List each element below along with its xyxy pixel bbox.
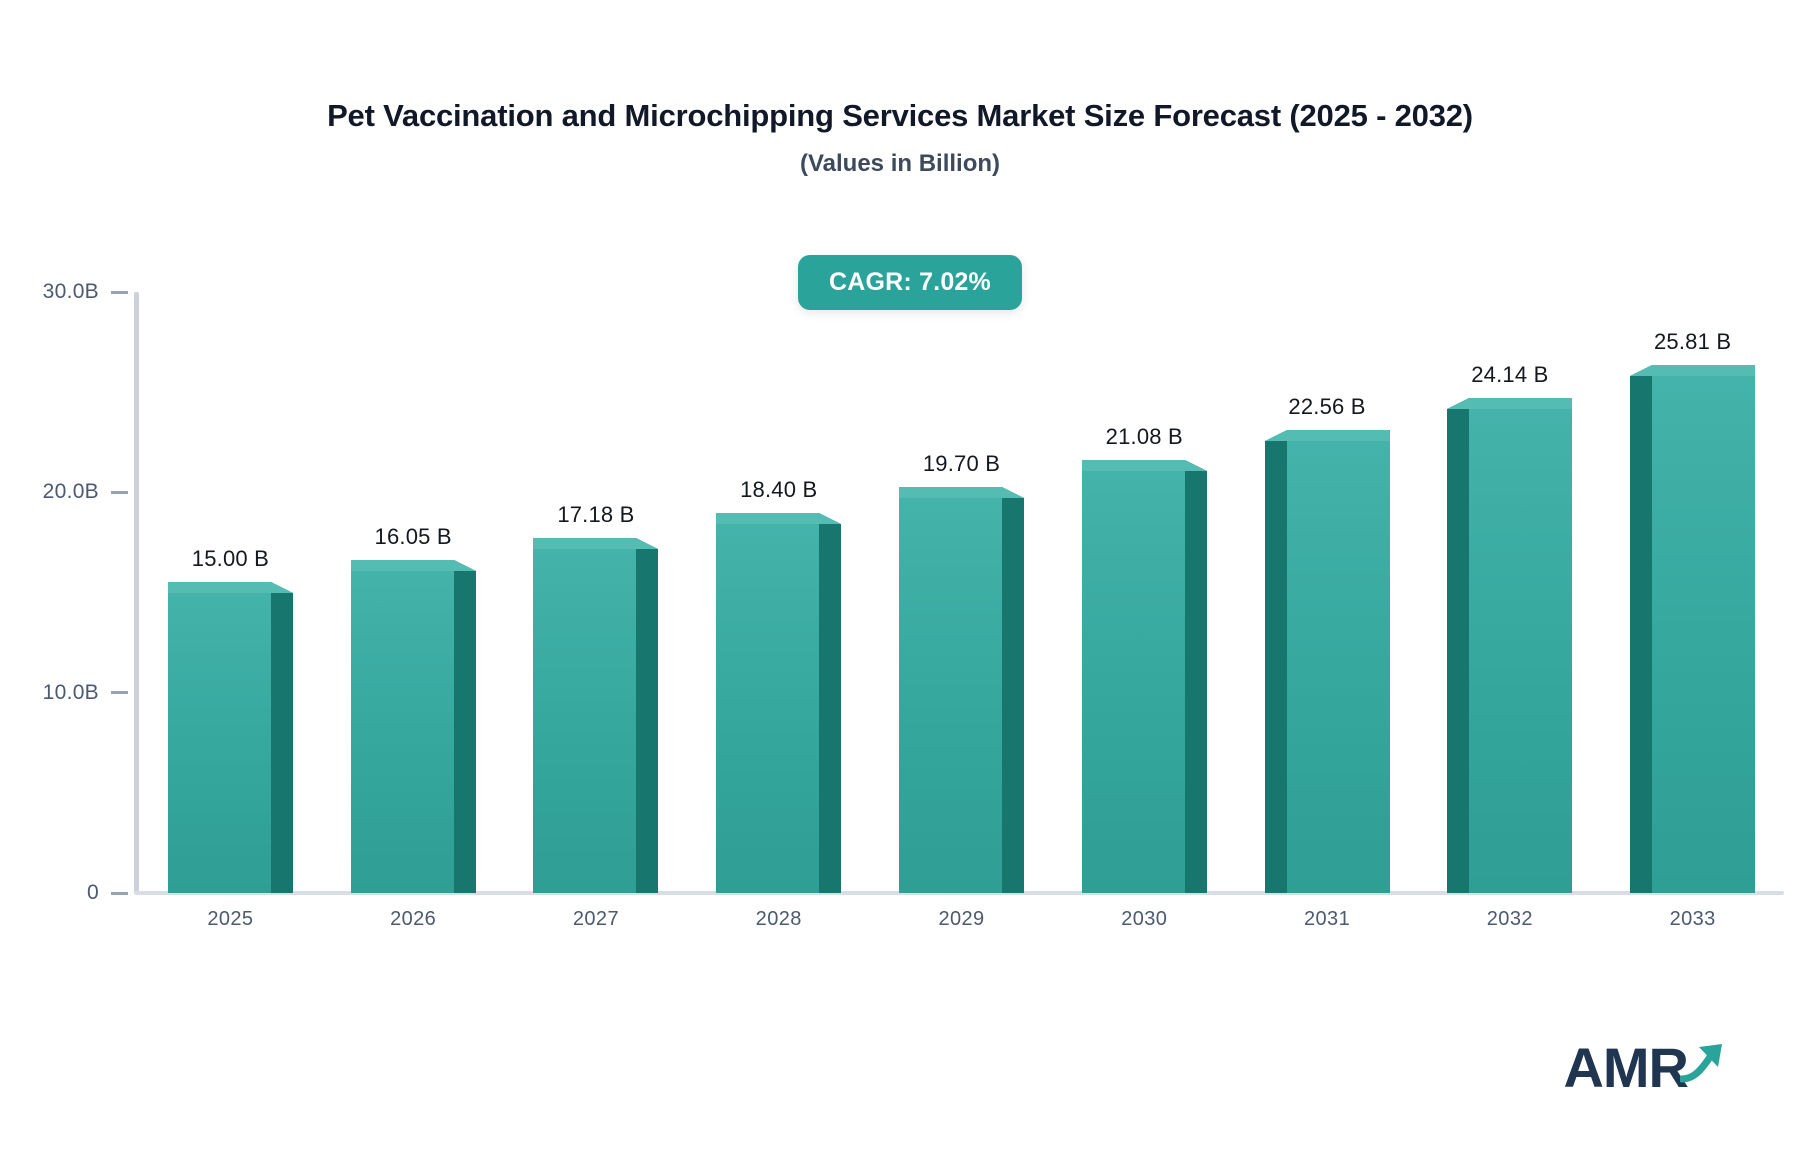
y-axis-tick-label: 0 bbox=[87, 881, 99, 905]
bar-value-label: 24.14 B bbox=[1410, 362, 1610, 388]
x-axis-label: 2030 bbox=[1064, 908, 1224, 931]
bar-top-face bbox=[1652, 365, 1755, 376]
bar-top-face bbox=[533, 538, 636, 549]
y-axis-ticks: 010.0B20.0B30.0B bbox=[0, 0, 128, 1000]
amr-logo-text: AMR bbox=[1563, 1040, 1688, 1096]
x-axis-label: 2026 bbox=[333, 908, 493, 931]
bar-top-face bbox=[819, 513, 841, 524]
bar-body bbox=[1630, 376, 1755, 893]
x-axis-label: 2028 bbox=[699, 908, 859, 931]
bar-value-label: 15.00 B bbox=[130, 546, 330, 572]
bar-body bbox=[351, 571, 476, 893]
bar-body bbox=[716, 524, 841, 893]
bar-value-label: 17.18 B bbox=[496, 502, 696, 528]
bar[interactable] bbox=[899, 498, 1024, 893]
bar-side-face bbox=[271, 593, 293, 894]
bar-top-face bbox=[1002, 487, 1024, 498]
x-axis-labels: 202520262027202820292030203120322033 bbox=[139, 908, 1784, 948]
bar-side-face bbox=[636, 549, 658, 893]
y-axis-tick-mark bbox=[111, 892, 128, 895]
x-axis-label: 2025 bbox=[150, 908, 310, 931]
bar[interactable] bbox=[168, 593, 293, 894]
bar-top-face bbox=[1447, 398, 1469, 409]
bar-value-label: 18.40 B bbox=[679, 477, 879, 503]
bar-top-face bbox=[1287, 430, 1390, 441]
bar-side-face bbox=[1265, 441, 1287, 893]
arrow-up-right-icon bbox=[1680, 1039, 1734, 1090]
bar-value-label: 19.70 B bbox=[862, 451, 1062, 477]
x-axis-label: 2033 bbox=[1613, 908, 1773, 931]
y-axis-tick: 10.0B bbox=[43, 683, 128, 703]
bar-side-face bbox=[819, 524, 841, 893]
y-axis-tick-mark bbox=[111, 491, 128, 494]
bar-body bbox=[1082, 471, 1207, 893]
y-axis-tick-label: 20.0B bbox=[43, 480, 99, 504]
bar-top-face bbox=[1265, 430, 1287, 441]
y-axis-tick: 30.0B bbox=[43, 282, 128, 302]
y-axis-tick-label: 10.0B bbox=[43, 681, 99, 705]
bar-top-face bbox=[716, 513, 819, 524]
y-axis-tick-mark bbox=[111, 691, 128, 694]
bar[interactable] bbox=[533, 549, 658, 893]
bar[interactable] bbox=[716, 524, 841, 893]
bar-side-face bbox=[1002, 498, 1024, 893]
y-axis-tick: 0 bbox=[87, 883, 128, 903]
x-axis-label: 2032 bbox=[1430, 908, 1590, 931]
bar-body bbox=[533, 549, 658, 893]
amr-logo: AMR bbox=[1563, 1040, 1744, 1096]
bar-top-face bbox=[454, 560, 476, 571]
bar-value-label: 21.08 B bbox=[1044, 424, 1244, 450]
y-axis-tick-mark bbox=[111, 291, 128, 294]
bar-top-face bbox=[1082, 460, 1185, 471]
bar-body bbox=[899, 498, 1024, 893]
bar-side-face bbox=[1447, 409, 1469, 893]
bar-side-face bbox=[454, 571, 476, 893]
bar-value-label: 16.05 B bbox=[313, 524, 513, 550]
bar[interactable] bbox=[1447, 409, 1572, 893]
x-axis-label: 2031 bbox=[1247, 908, 1407, 931]
bar-top-face bbox=[1630, 365, 1652, 376]
bar-body bbox=[168, 593, 293, 894]
bar-chart: 010.0B20.0B30.0B 15.00 B16.05 B17.18 B18… bbox=[0, 0, 1800, 1000]
bar-value-label: 25.81 B bbox=[1593, 329, 1793, 355]
bar[interactable] bbox=[1265, 441, 1390, 893]
bar-value-label: 22.56 B bbox=[1227, 394, 1427, 420]
bar-top-face bbox=[1469, 398, 1572, 409]
bar-top-face bbox=[899, 487, 1002, 498]
bar-top-face bbox=[1185, 460, 1207, 471]
bar-body bbox=[1447, 409, 1572, 893]
x-axis-label: 2027 bbox=[516, 908, 676, 931]
bar[interactable] bbox=[1630, 376, 1755, 893]
bar-side-face bbox=[1185, 471, 1207, 893]
bars-layer: 15.00 B16.05 B17.18 B18.40 B19.70 B21.08… bbox=[139, 292, 1784, 893]
bar-top-face bbox=[351, 560, 454, 571]
bar[interactable] bbox=[1082, 471, 1207, 893]
x-axis-label: 2029 bbox=[882, 908, 1042, 931]
y-axis-tick-label: 30.0B bbox=[43, 280, 99, 304]
bar[interactable] bbox=[351, 571, 476, 893]
bar-top-face bbox=[271, 582, 293, 593]
bar-body bbox=[1265, 441, 1390, 893]
bar-top-face bbox=[168, 582, 271, 593]
bar-side-face bbox=[1630, 376, 1652, 893]
y-axis-tick: 20.0B bbox=[43, 482, 128, 502]
bar-top-face bbox=[636, 538, 658, 549]
